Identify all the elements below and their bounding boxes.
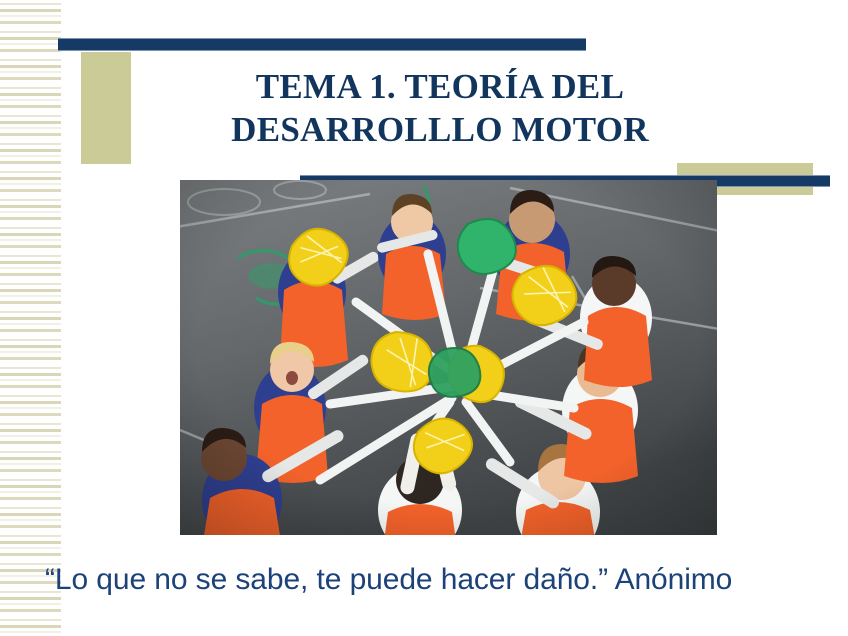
page-title: TEMA 1. TEORÍA DEL DESARROLLLO MOTOR (150, 66, 730, 151)
title-line-2: DESARROLLLO MOTOR (150, 109, 730, 152)
presentation-slide: TEMA 1. TEORÍA DEL DESARROLLLO MOTOR (0, 0, 848, 636)
left-striped-band (0, 0, 61, 636)
khaki-rectangle-top-left (81, 52, 131, 164)
navy-rule-top (58, 38, 586, 51)
slide-photo (180, 180, 717, 535)
quote-caption: “Lo que no se sabe, te puede hacer daño.… (45, 563, 848, 597)
lacrosse-circle-photo-illustration (180, 180, 717, 535)
title-line-1: TEMA 1. TEORÍA DEL (150, 66, 730, 109)
